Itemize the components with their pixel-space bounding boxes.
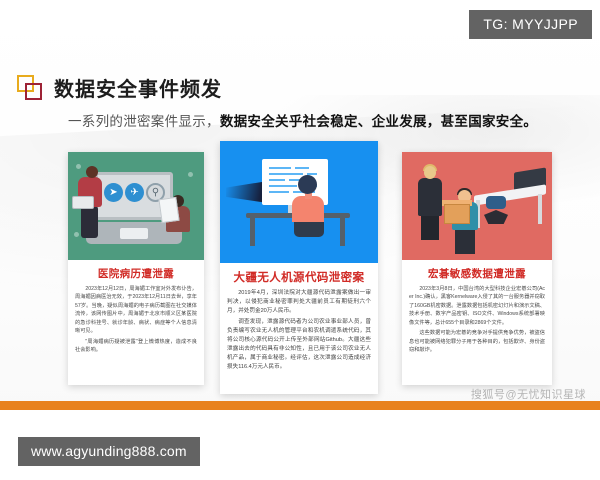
case-card-hospital-records[interactable]: ➤ ✈ ⚲ 医院病历遭泄露 2023年12月12日，周海媚工作室对外发布讣告，周…: [68, 152, 204, 385]
card-body: 宏碁敏感数据遭泄露 2023年3月8日，中国台湾的大型科技企业宏碁公司(Acer…: [402, 260, 552, 385]
paper-plane-icon: ✈: [125, 183, 144, 202]
subtitle-strong: 数据安全关乎社会稳定、企业发展，甚至国家安全。: [220, 114, 537, 129]
page-subtitle: 一系列的泄密案件显示，数据安全关乎社会稳定、企业发展，甚至国家安全。: [68, 110, 568, 130]
card-paragraph: 2019年4月，深圳法院对大疆源代码泄露案做出一审判决，以侵犯商业秘密罪判处大疆…: [227, 289, 371, 316]
subtitle-lead: 一系列的泄密案件显示，: [68, 114, 220, 129]
orange-divider-band: [0, 401, 600, 410]
developer-monitor-code-illustration: [220, 141, 378, 263]
card-body: 大疆无人机源代码泄密案 2019年4月，深圳法院对大疆源代码泄露案做出一审判决，…: [220, 263, 378, 394]
employee-leaving-with-box-illustration: [402, 152, 552, 260]
card-paragraph: 调查发现，泄露源代码者为公司农业事业部人员，曾负责编写农业无人机的管理平台和农机…: [227, 318, 371, 372]
card-paragraph: 2023年12月12日，周海媚工作室对外发布讣告，周海媚因病医治无效，于2023…: [75, 285, 197, 336]
laptop-social-leak-illustration: ➤ ✈ ⚲: [68, 152, 204, 260]
case-card-dji-source-code[interactable]: 大疆无人机源代码泄密案 2019年4月，深圳法院对大疆源代码泄露案做出一审判决，…: [220, 141, 378, 394]
overlapping-squares-icon: [17, 75, 43, 101]
card-title: 宏碁敏感数据遭泄露: [409, 266, 545, 281]
card-paragraph: 2023年3月8日，中国台湾的大型科技企业宏碁公司(Acer Inc.)确认，黑…: [409, 285, 545, 327]
card-title: 大疆无人机源代码泄密案: [227, 269, 371, 285]
telegram-icon: ➤: [104, 183, 123, 202]
card-paragraph: 这些数据可能为宏碁的竞争对手提供竞争优势，被盗信息也可能被网络犯罪分子用于各种目…: [409, 329, 545, 354]
card-title: 医院病历遭泄露: [75, 266, 197, 281]
page-heading: 数据安全事件频发: [17, 73, 222, 102]
slide-canvas: TG: MYYJJPP 数据安全事件频发 一系列的泄密案件显示，数据安全关乎社会…: [0, 0, 600, 480]
tg-handle-badge: TG: MYYJJPP: [469, 10, 592, 39]
case-card-acer-data-breach[interactable]: 宏碁敏感数据遭泄露 2023年3月8日，中国台湾的大型科技企业宏碁公司(Acer…: [402, 152, 552, 385]
source-watermark: 搜狐号@无忧知识星球: [471, 386, 586, 402]
page-title: 数据安全事件频发: [54, 73, 222, 102]
card-paragraph: "周海媚病历疑被泄露"登上微博热度，造成不良社会影响。: [75, 338, 197, 355]
card-body: 医院病历遭泄露 2023年12月12日，周海媚工作室对外发布讣告，周海媚因病医治…: [68, 260, 204, 385]
website-url-chip: www.agyunding888.com: [18, 437, 200, 466]
